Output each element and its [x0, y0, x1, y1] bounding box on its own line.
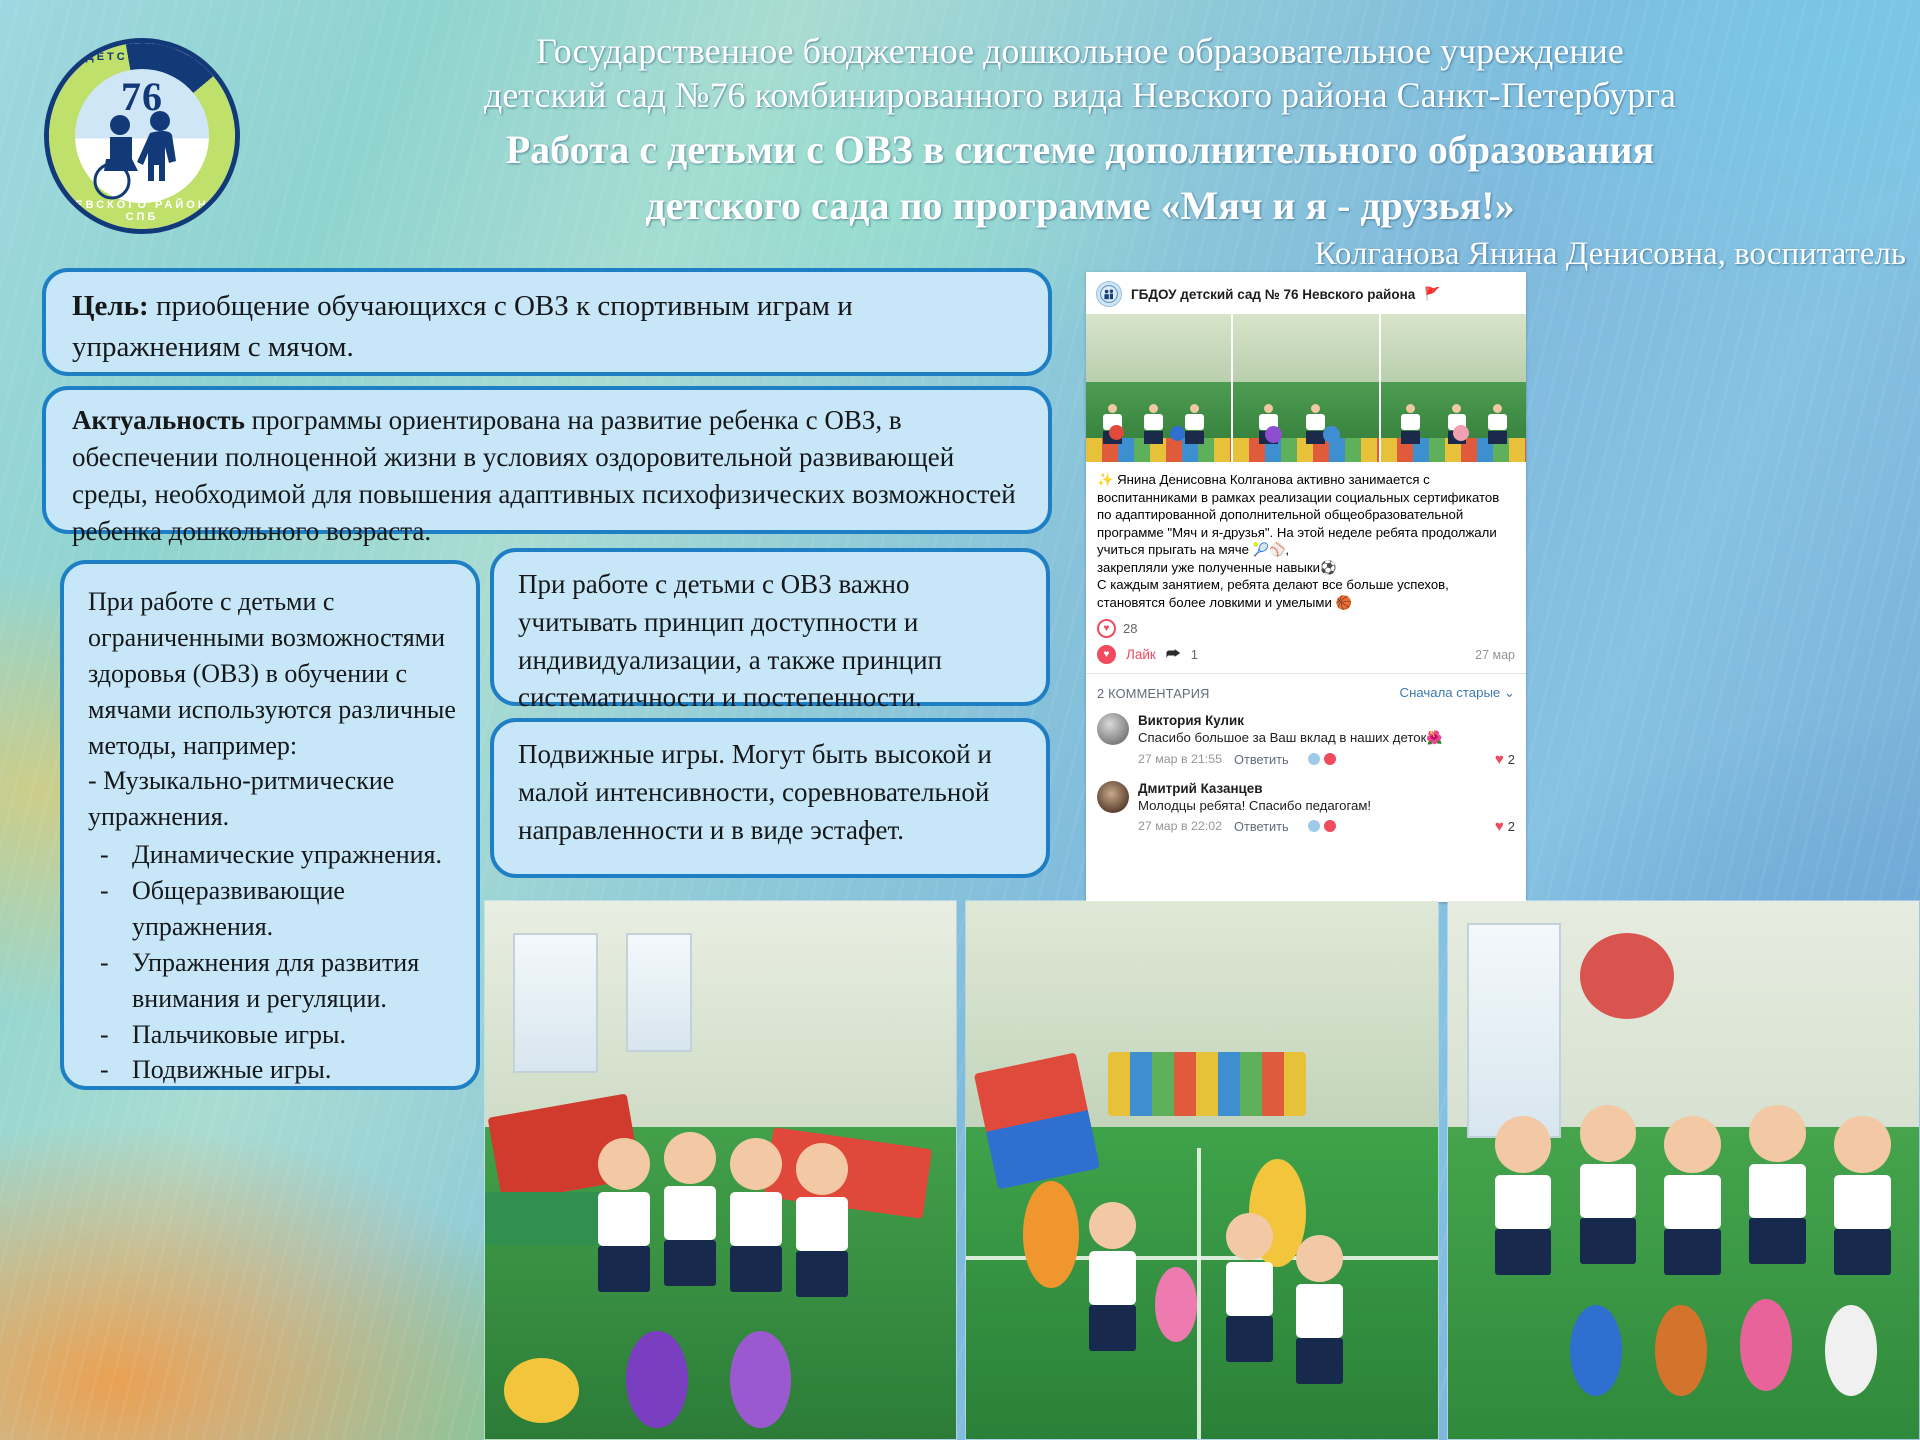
logo-children-silhouette	[82, 109, 202, 201]
list-dash: -	[100, 837, 109, 873]
list-item: -Динамические упражнения.	[88, 837, 458, 873]
court-line	[1197, 1148, 1201, 1439]
comment-text: Спасибо большое за Ваш вклад в наших дет…	[1138, 729, 1515, 746]
child-figure	[1488, 404, 1507, 444]
avatar-children-icon	[1100, 285, 1118, 303]
radiator	[1467, 923, 1561, 1138]
soft-block-row	[1108, 1052, 1306, 1117]
gym-photo-center	[965, 900, 1438, 1440]
goal-text: приобщение обучающихся с ОВЗ к спортивны…	[72, 290, 853, 363]
presentation-title-line-1: Работа с детьми с ОВЗ в системе дополнит…	[250, 125, 1910, 175]
gym-wall	[1233, 314, 1378, 382]
comment-text: Молодцы ребята! Спасибо педагогам!	[1138, 797, 1515, 814]
vk-photo-3[interactable]	[1381, 314, 1526, 462]
comment-item: Виктория Кулик Спасибо большое за Ваш вк…	[1086, 709, 1526, 776]
window	[513, 933, 598, 1073]
vk-photo-1[interactable]	[1086, 314, 1231, 462]
heart-filled-icon: ♥	[1495, 818, 1504, 835]
presentation-title-line-2: детского сада по программе «Мяч и я - др…	[250, 181, 1910, 231]
list-item: -Подвижные игры.	[88, 1052, 458, 1088]
slide-root: ДЕТСКИЙ САД 76 НЕВСКОГО РАЙОНА СПБ Госуд…	[0, 0, 1920, 1440]
methods-box: При работе с детьми с ограниченными возм…	[60, 560, 480, 1090]
chevron-down-icon: ⌄	[1504, 685, 1515, 700]
child-figure	[1401, 404, 1420, 444]
exercise-ball	[1109, 425, 1124, 440]
logo-arc-top-text: ДЕТСКИЙ САД	[49, 51, 235, 63]
list-dash: -	[100, 945, 109, 981]
volleyball	[1570, 1305, 1622, 1396]
child-figure	[1144, 404, 1163, 444]
list-dash: -	[100, 1052, 109, 1088]
vk-post-text-part-3: С каждым занятием, ребята делают все бол…	[1097, 576, 1515, 611]
vk-post-body: ✨ Янина Денисовна Колганова активно зани…	[1086, 462, 1526, 613]
child-figure	[1185, 404, 1204, 444]
gym-wall	[1086, 314, 1231, 382]
pink-ball	[1740, 1299, 1792, 1390]
goal-paragraph: Цель: приобщение обучающихся с ОВЗ к спо…	[72, 286, 1022, 368]
comment-body: Дмитрий Казанцев Молодцы ребята! Спасибо…	[1138, 781, 1515, 835]
child-figure	[1296, 1235, 1343, 1384]
gym-wall	[1381, 314, 1526, 382]
child-figure	[1495, 1116, 1552, 1275]
organization-line-2: детский сад №76 комбинированного вида Не…	[250, 72, 1910, 119]
exercise-ball	[626, 1331, 687, 1428]
vk-share-count: 1	[1191, 647, 1198, 662]
vk-photo-2[interactable]	[1233, 314, 1378, 462]
share-icon[interactable]: ⮫	[1166, 646, 1181, 664]
vk-action-bar[interactable]: ♥ Лайк ⮫ 1 27 мар	[1086, 642, 1526, 674]
comment-like-count: 2	[1508, 752, 1515, 767]
comment-reply-button[interactable]: Ответить	[1234, 752, 1289, 767]
kindergarten-logo: ДЕТСКИЙ САД 76 НЕВСКОГО РАЙОНА СПБ	[44, 38, 240, 234]
basketball	[1655, 1305, 1707, 1396]
comment-reactors-icons	[1307, 819, 1337, 833]
reactor-avatar-icon	[1307, 752, 1321, 766]
exercise-ball	[1265, 426, 1282, 443]
comment-reactors-icons	[1307, 752, 1337, 766]
comments-sort-label: Сначала старые	[1400, 685, 1504, 700]
comments-sort-dropdown[interactable]: Сначала старые ⌄	[1400, 685, 1515, 701]
reactor-heart-icon	[1323, 819, 1337, 833]
flag-icon: 🚩	[1424, 286, 1440, 302]
comment-body: Виктория Кулик Спасибо большое за Ваш вк…	[1138, 713, 1515, 767]
vk-post-date: 27 мар	[1475, 648, 1515, 662]
comment-reply-button[interactable]: Ответить	[1234, 819, 1289, 834]
vk-reaction-count: 28	[1123, 621, 1137, 636]
methods-first-item: - Музыкально-ритмические упражнения.	[88, 763, 458, 835]
list-item-label: Динамические упражнения.	[132, 840, 442, 869]
child-figure	[1664, 1116, 1721, 1275]
child-figure	[1580, 1105, 1637, 1264]
slide-header: Государственное бюджетное дошкольное обр…	[250, 30, 1910, 273]
like-button-label[interactable]: Лайк	[1126, 647, 1156, 662]
child-figure	[1306, 404, 1325, 444]
heart-outline-icon: ♥	[1097, 619, 1116, 638]
white-ball	[1825, 1305, 1877, 1396]
comment-item: Дмитрий Казанцев Молодцы ребята! Спасибо…	[1086, 777, 1526, 844]
avatar[interactable]	[1097, 781, 1129, 813]
relevance-box: Актуальность программы ориентирована на …	[42, 386, 1052, 534]
methods-intro: При работе с детьми с ограниченными возм…	[88, 584, 458, 763]
like-heart-icon[interactable]: ♥	[1097, 645, 1116, 664]
comment-author-name[interactable]: Виктория Кулик	[1138, 713, 1515, 728]
comments-count-label: 2 КОММЕНТАРИЯ	[1097, 686, 1210, 701]
relevance-label: Актуальность	[72, 405, 245, 435]
child-figure	[1089, 1202, 1136, 1351]
child-figure	[1749, 1105, 1806, 1264]
gym-mat-green	[485, 1192, 608, 1246]
list-dash: -	[100, 873, 109, 909]
child-figure	[598, 1138, 650, 1292]
comment-like-count-group[interactable]: ♥ 2	[1495, 818, 1515, 835]
vk-post-text-part-1: ✨ Янина Денисовна Колганова активно зани…	[1097, 471, 1515, 559]
list-item-label: Пальчиковые игры.	[132, 1020, 346, 1049]
organization-line-1: Государственное бюджетное дошкольное обр…	[250, 30, 1910, 72]
vk-group-avatar-icon	[1096, 281, 1122, 307]
vk-comments-header: 2 КОММЕНТАРИЯ Сначала старые ⌄	[1086, 674, 1526, 709]
gym-photo-left	[484, 900, 957, 1440]
list-item: -Пальчиковые игры.	[88, 1017, 458, 1053]
comment-meta: 27 мар в 22:02 Ответить ♥ 2	[1138, 818, 1515, 835]
comment-timestamp: 27 мар в 22:02	[1138, 819, 1222, 833]
list-item-label: Упражнения для развития внимания и регул…	[132, 948, 419, 1013]
principles-text: При работе с детьми с ОВЗ важно учитыват…	[518, 566, 1022, 717]
games-text: Подвижные игры. Могут быть высокой и мал…	[518, 736, 1022, 849]
gym-ring	[504, 1358, 579, 1423]
comment-meta: 27 мар в 21:55 Ответить ♥ 2	[1138, 751, 1515, 768]
list-item-label: Общеразвивающие упражнения.	[132, 876, 345, 941]
list-dash: -	[100, 1017, 109, 1053]
child-figure	[730, 1138, 782, 1292]
reactor-avatar-icon	[1307, 819, 1321, 833]
comment-author-name[interactable]: Дмитрий Казанцев	[1138, 781, 1515, 796]
comment-like-count-group[interactable]: ♥ 2	[1495, 751, 1515, 768]
list-item: -Упражнения для развития внимания и регу…	[88, 945, 458, 1017]
child-figure	[1834, 1116, 1891, 1275]
exercise-ball	[1155, 1267, 1197, 1342]
vk-reaction-summary[interactable]: ♥ 28	[1086, 613, 1526, 642]
child-figure	[796, 1143, 848, 1297]
vk-post-photo-grid[interactable]	[1086, 314, 1526, 462]
list-item: -Общеразвивающие упражнения.	[88, 873, 458, 945]
vk-post-card[interactable]: ГБДОУ детский сад № 76 Невского района 🚩	[1086, 272, 1526, 902]
vk-post-text-part-2: закрепляли уже полученные навыки⚽	[1097, 559, 1515, 577]
window	[626, 933, 692, 1051]
methods-list: -Динамические упражнения. -Общеразвивающ…	[88, 837, 458, 1088]
decor-ball	[1580, 933, 1674, 1019]
comment-timestamp: 27 мар в 21:55	[1138, 752, 1222, 766]
child-figure	[664, 1132, 716, 1286]
goal-label: Цель:	[72, 290, 149, 322]
comment-like-count: 2	[1508, 819, 1515, 834]
games-box: Подвижные игры. Могут быть высокой и мал…	[490, 718, 1050, 878]
avatar[interactable]	[1097, 713, 1129, 745]
list-item-label: Подвижные игры.	[132, 1055, 331, 1084]
bottom-photo-strip	[484, 900, 1920, 1440]
reactor-heart-icon	[1323, 752, 1337, 766]
vk-group-name[interactable]: ГБДОУ детский сад № 76 Невского района	[1131, 287, 1415, 302]
heart-filled-icon: ♥	[1495, 751, 1504, 768]
gym-photo-right	[1447, 900, 1920, 1440]
child-figure	[1226, 1213, 1273, 1362]
goal-box: Цель: приобщение обучающихся с ОВЗ к спо…	[42, 268, 1052, 376]
logo-arc-bottom-text: НЕВСКОГО РАЙОНА СПБ	[49, 199, 235, 223]
exercise-ball	[730, 1331, 791, 1428]
principles-box: При работе с детьми с ОВЗ важно учитыват…	[490, 548, 1050, 706]
vk-post-header[interactable]: ГБДОУ детский сад № 76 Невского района 🚩	[1086, 272, 1526, 314]
relevance-paragraph: Актуальность программы ориентирована на …	[72, 402, 1022, 550]
